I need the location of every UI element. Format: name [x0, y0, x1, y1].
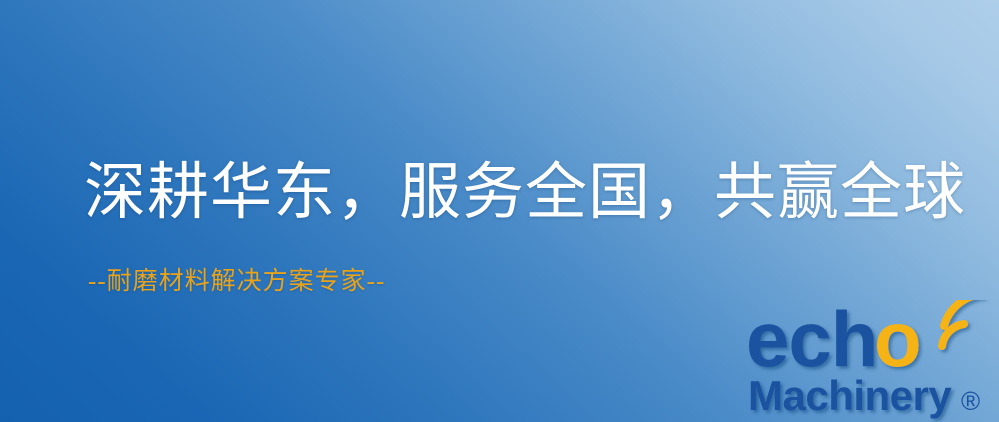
banner-headline: 深耕华东，服务全国，共赢全球: [84, 155, 966, 231]
logo-echo-text: ech: [746, 300, 877, 383]
signal-arc-icon: [942, 300, 982, 346]
logo-machinery-text: Machinery: [748, 372, 952, 419]
echo-machinery-logo: ech o Machinery ®: [746, 300, 996, 422]
promo-banner: 深耕华东，服务全国，共赢全球 --耐磨材料解决方案专家-- ech o Mach…: [0, 0, 999, 422]
logo-o-accent: o: [874, 300, 922, 383]
banner-subtitle: --耐磨材料解决方案专家--: [88, 266, 385, 298]
logo-trademark-symbol: ®: [961, 386, 980, 416]
